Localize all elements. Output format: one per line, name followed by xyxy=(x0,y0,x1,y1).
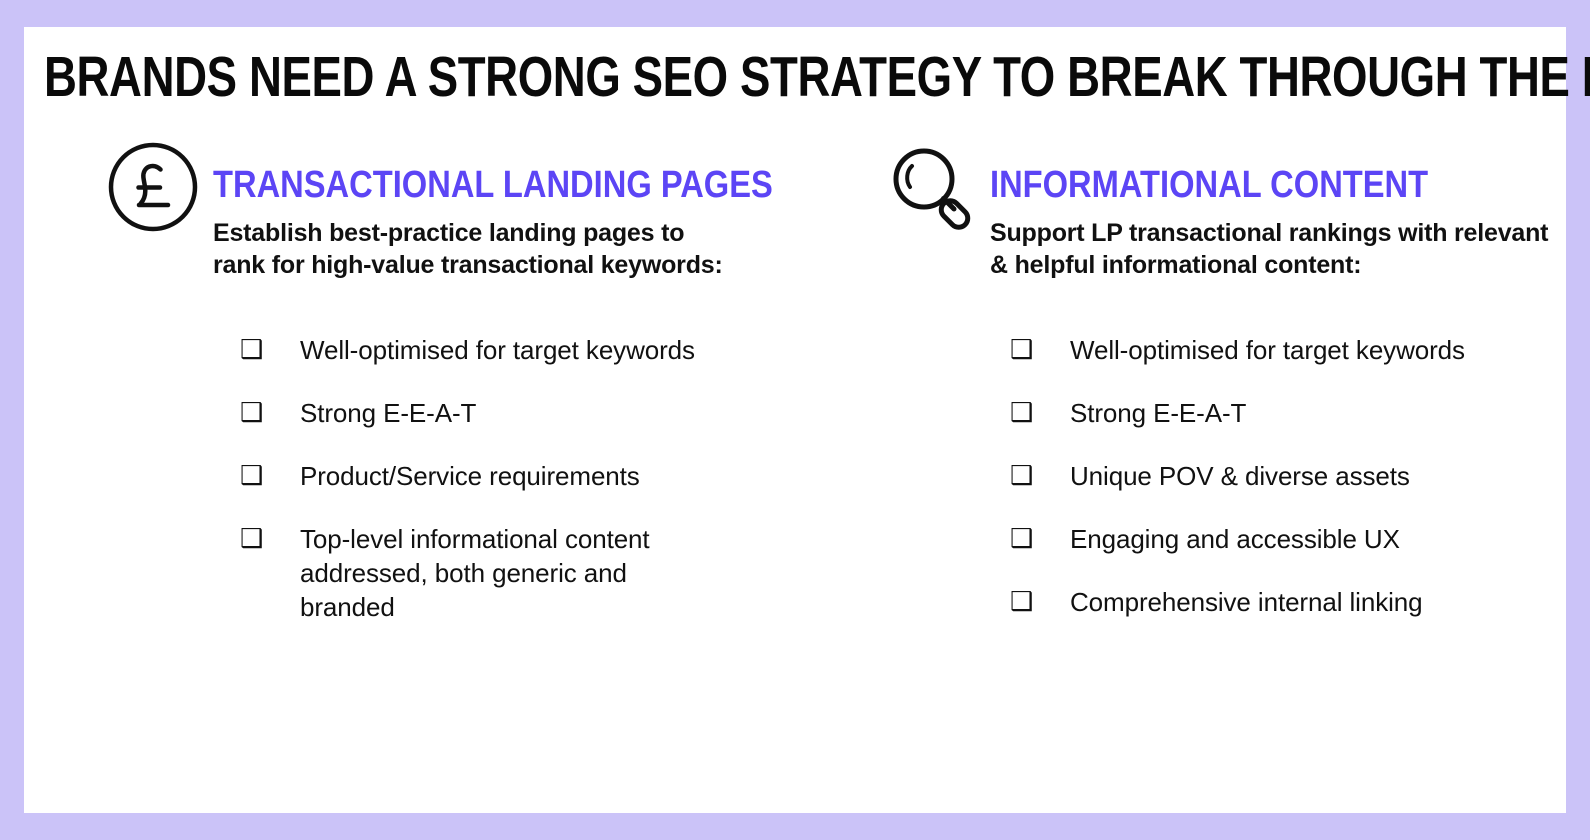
section-subtitle: Establish best-practice landing pages to… xyxy=(213,217,733,281)
slide-root: BRANDS NEED A STRONG SEO STRATEGY TO BRE… xyxy=(0,0,1590,840)
bullet-square-icon: ❑ xyxy=(240,459,300,493)
list-item: ❑ Top-level informational content addres… xyxy=(240,522,795,624)
bullet-square-icon: ❑ xyxy=(1010,459,1070,493)
list-item-label: Product/Service requirements xyxy=(300,459,700,493)
bullet-list: ❑ Well-optimised for target keywords ❑ S… xyxy=(882,333,1566,619)
list-item-label: Strong E-E-A-T xyxy=(1070,396,1470,430)
page-title: BRANDS NEED A STRONG SEO STRATEGY TO BRE… xyxy=(44,45,1244,109)
list-item: ❑ Strong E-E-A-T xyxy=(240,396,795,430)
list-item: ❑ Product/Service requirements xyxy=(240,459,795,493)
magnifying-glass-icon xyxy=(882,139,990,235)
list-item: ❑ Well-optimised for target keywords xyxy=(240,333,795,367)
column-informational-content: INFORMATIONAL CONTENT Support LP transac… xyxy=(795,139,1566,624)
section-heading: INFORMATIONAL CONTENT xyxy=(990,165,1485,205)
bullet-square-icon: ❑ xyxy=(1010,396,1070,430)
bullet-square-icon: ❑ xyxy=(240,522,300,556)
list-item: ❑ Strong E-E-A-T xyxy=(1010,396,1566,430)
list-item-label: Engaging and accessible UX xyxy=(1070,522,1470,556)
list-item: ❑ Engaging and accessible UX xyxy=(1010,522,1566,556)
bullet-square-icon: ❑ xyxy=(1010,333,1070,367)
pound-circle-icon xyxy=(105,139,213,235)
list-item-label: Well-optimised for target keywords xyxy=(300,333,700,367)
column-header-text: INFORMATIONAL CONTENT Support LP transac… xyxy=(990,139,1566,281)
column-transactional-landing-pages: TRANSACTIONAL LANDING PAGES Establish be… xyxy=(24,139,795,624)
list-item-label: Strong E-E-A-T xyxy=(300,396,700,430)
bullet-square-icon: ❑ xyxy=(1010,585,1070,619)
section-subtitle: Support LP transactional rankings with r… xyxy=(990,217,1550,281)
bullet-square-icon: ❑ xyxy=(240,333,300,367)
list-item: ❑ Well-optimised for target keywords xyxy=(1010,333,1566,367)
column-header: TRANSACTIONAL LANDING PAGES Establish be… xyxy=(105,139,795,281)
column-header-text: TRANSACTIONAL LANDING PAGES Establish be… xyxy=(213,139,864,281)
column-header: INFORMATIONAL CONTENT Support LP transac… xyxy=(882,139,1566,281)
list-item: ❑ Unique POV & diverse assets xyxy=(1010,459,1566,493)
section-heading: TRANSACTIONAL LANDING PAGES xyxy=(213,165,773,205)
list-item-label: Comprehensive internal linking xyxy=(1070,585,1470,619)
bullet-square-icon: ❑ xyxy=(240,396,300,430)
list-item-label: Unique POV & diverse assets xyxy=(1070,459,1470,493)
content-card: BRANDS NEED A STRONG SEO STRATEGY TO BRE… xyxy=(24,27,1566,813)
bullet-list: ❑ Well-optimised for target keywords ❑ S… xyxy=(105,333,795,624)
columns-container: TRANSACTIONAL LANDING PAGES Establish be… xyxy=(24,139,1566,624)
list-item-label: Well-optimised for target keywords xyxy=(1070,333,1470,367)
list-item-label: Top-level informational content addresse… xyxy=(300,522,700,624)
bullet-square-icon: ❑ xyxy=(1010,522,1070,556)
list-item: ❑ Comprehensive internal linking xyxy=(1010,585,1566,619)
